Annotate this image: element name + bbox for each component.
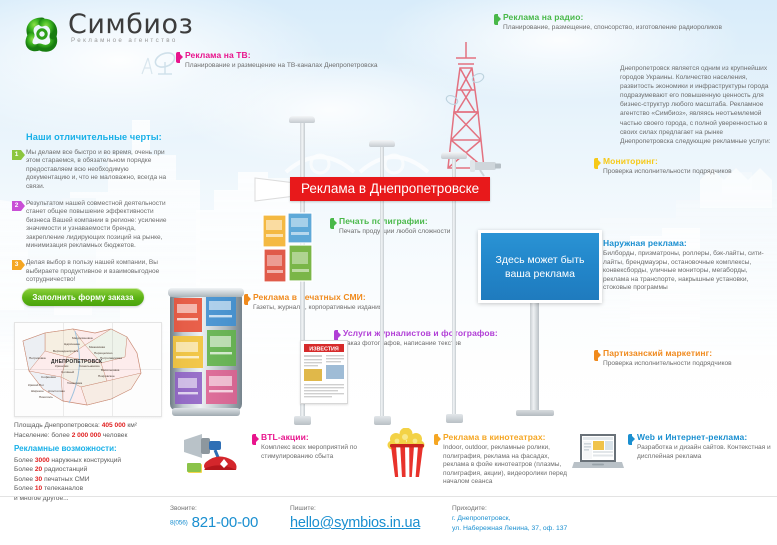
opp-suffix: наружных конструкций xyxy=(51,457,121,464)
footer: Звоните: 8(056) 821-00-00 Пишите: hello@… xyxy=(0,503,777,545)
map-label: Магдалиновка xyxy=(72,336,93,340)
brand-tagline: Рекламное агентство xyxy=(71,37,193,44)
green-knot-logo-icon xyxy=(22,14,62,54)
opp-prefix: Более xyxy=(14,466,33,473)
service-callout-tv[interactable]: Реклама на ТВ: Планирование и размещение… xyxy=(176,50,391,71)
service-callout-monitoring[interactable]: Мониторинг: Проверка исполнительности по… xyxy=(594,156,774,177)
callout-marker-icon xyxy=(330,218,334,229)
map-label: Верхнеднепровск xyxy=(53,349,78,353)
opp-suffix: радиостанций xyxy=(44,466,87,473)
callout-marker-icon xyxy=(244,294,248,305)
stat-population-value: 2 000 000 xyxy=(72,432,101,439)
advertising-column xyxy=(170,292,242,420)
billboard-post xyxy=(530,297,539,415)
opp-value: 30 xyxy=(35,476,42,483)
callout-marker-icon xyxy=(494,14,498,25)
laptop-icon xyxy=(572,432,624,472)
opp-value: 20 xyxy=(35,466,42,473)
service-callout-cinema[interactable]: Реклама в кинотеатрах: Indoor, outdoor, … xyxy=(434,432,570,487)
feature-item: 1 Мы делаем все быстро и во время, очень… xyxy=(12,149,172,191)
opp-suffix: печатных СМИ xyxy=(44,476,89,483)
callout-marker-icon xyxy=(594,350,598,361)
service-title: Web и Интернет-реклама: xyxy=(637,432,774,443)
footer-divider xyxy=(0,496,777,497)
footer-phone-code: 8(056) xyxy=(170,520,188,527)
service-title: Мониторинг: xyxy=(603,156,774,167)
service-title: BTL-акции: xyxy=(261,432,382,443)
list-item: Более 10 телеканалов xyxy=(14,484,194,493)
service-desc: Планирование, размещение, спонсорство, и… xyxy=(503,24,769,33)
list-item: Более 30 печатных СМИ xyxy=(14,475,194,484)
opportunities-title: Рекламные возможности: xyxy=(14,444,194,453)
service-callout-guerrilla[interactable]: Партизанский маркетинг: Проверка исполни… xyxy=(594,348,774,369)
list-item: Более 20 радиостанций xyxy=(14,465,194,474)
feature-text: Делая выбор в пользу нашей компании, Вы … xyxy=(26,259,172,284)
map-label: Межевская xyxy=(89,345,105,349)
service-title: Партизанский маркетинг: xyxy=(603,348,774,359)
stat-area-unit: км² xyxy=(127,422,137,429)
map-label: Солёный xyxy=(61,370,74,374)
feature-text: Результатом нашей совместной деятельност… xyxy=(26,200,172,250)
service-callout-outdoor[interactable]: Наружная реклама: Билборды, призматроны,… xyxy=(594,238,774,293)
service-title: Реклама в печатных СМИ: xyxy=(253,292,434,303)
features-title: Наши отличительные черты: xyxy=(26,132,172,142)
service-desc: Разработка и дизайн сайтов. Контекстная … xyxy=(637,444,774,461)
poster-collage xyxy=(262,212,314,284)
footer-address-block: Приходите: г. Днепропетровск, ул. Набере… xyxy=(452,505,567,533)
service-desc: Заказ фотографов, написание текстов xyxy=(343,340,534,349)
service-desc: Indoor, outdoor, рекламные ролики, полиг… xyxy=(443,444,570,487)
stat-population-prefix: более xyxy=(51,432,69,439)
map-label: Покровское xyxy=(98,374,115,378)
service-title: Печать полиграфии: xyxy=(339,216,510,227)
footer-write-label: Пишите: xyxy=(290,505,420,512)
map-label: Кринички xyxy=(55,364,68,368)
opp-prefix: Более xyxy=(14,457,33,464)
service-callout-btl[interactable]: BTL-акции: Комплекс всех мероприятий по … xyxy=(252,432,382,461)
stat-area: Площадь Днепропетровска: 405 000 км² xyxy=(14,421,194,431)
map-label: Петриковка xyxy=(29,356,46,360)
callout-marker-icon xyxy=(176,52,180,63)
map-label: Васильковка xyxy=(101,368,119,372)
page-root: Симбиоз Рекламное агентство Реклама на Т… xyxy=(0,0,777,545)
map-label: Синельниково xyxy=(79,364,100,368)
billboard-line-2: ваша реклама xyxy=(496,267,585,281)
stat-area-value: 405 000 xyxy=(102,422,126,429)
feature-item: 3 Делая выбор в пользу нашей компании, В… xyxy=(12,259,172,284)
stat-population-label: Население: xyxy=(14,432,50,439)
opp-value: 10 xyxy=(35,485,42,492)
footer-email-link[interactable]: hello@symbios.in.ua xyxy=(290,515,420,531)
service-title: Услуги журналистов и фотографов: xyxy=(343,328,534,339)
opp-prefix: Более xyxy=(14,476,33,483)
service-desc: Планирование и размещение на ТВ-каналах … xyxy=(185,62,391,71)
opportunities-section: Рекламные возможности: Более 3000 наружн… xyxy=(14,444,194,503)
service-title: Реклама в кинотеатрах: xyxy=(443,432,570,443)
service-callout-radio[interactable]: Реклама на радио: Планирование, размещен… xyxy=(494,12,769,33)
service-title: Реклама на ТВ: xyxy=(185,50,391,61)
callout-marker-icon xyxy=(252,434,256,445)
map-label: Томаковка xyxy=(67,381,82,385)
callout-marker-icon xyxy=(594,158,598,169)
callout-marker-icon xyxy=(628,434,632,445)
city-stats: Площадь Днепропетровска: 405 000 км² Нас… xyxy=(14,421,194,440)
billboard-line-1: Здесь может быть xyxy=(496,253,585,267)
opp-suffix: телеканалов xyxy=(44,485,83,492)
popcorn-icon xyxy=(386,428,428,478)
opp-prefix: Более xyxy=(14,485,33,492)
service-callout-web[interactable]: Web и Интернет-реклама: Разработка и диз… xyxy=(628,432,774,461)
billboard-panel[interactable]: Здесь может быть ваша реклама xyxy=(478,230,602,303)
stat-population-unit: человек xyxy=(103,432,127,439)
service-title: Наружная реклама: xyxy=(603,238,774,249)
map-label: Апостолово xyxy=(48,389,65,393)
newspaper-poster: ИЗВЕСТИЯ xyxy=(300,340,348,404)
feature-number: 2 xyxy=(12,201,21,211)
brand-name: Симбиоз xyxy=(68,10,193,40)
service-callout-journalists[interactable]: Услуги журналистов и фотографов: Заказ ф… xyxy=(334,328,534,349)
feature-text: Мы делаем все быстро и во время, очень п… xyxy=(26,149,172,191)
region-map[interactable]: ДНЕПРОПЕТРОВСК Магдалиновка Царичанка Ме… xyxy=(14,322,162,417)
service-desc: Газеты, журналы, корпоративные издания xyxy=(253,304,434,313)
features-section: Наши отличительные черты: 1 Мы делаем вс… xyxy=(12,132,172,294)
stat-population: Население: более 2 000 000 человек xyxy=(14,431,194,441)
btl-promo-icon xyxy=(182,430,248,476)
feature-number: 3 xyxy=(12,260,21,270)
callout-marker-icon xyxy=(434,434,438,445)
service-desc: Билборды, призматроны, роллеры, бэк-лайт… xyxy=(603,250,774,293)
map-label: Перещепино xyxy=(94,351,112,355)
service-desc: Проверка исполнительности подрядчиков xyxy=(603,168,774,177)
footer-visit-label: Приходите: xyxy=(452,505,567,512)
kiosk-cap xyxy=(168,288,244,297)
footer-address-line-1: г. Днепропетровск, xyxy=(452,514,567,524)
service-desc: Комплекс всех мероприятий по стимулирова… xyxy=(261,444,382,461)
stat-area-label: Площадь Днепропетровска: xyxy=(14,422,100,429)
main-banner-title: Реклама в Днепропетровске xyxy=(290,177,490,201)
footer-phone-block: Звоните: 8(056) 821-00-00 xyxy=(170,505,258,531)
billboard-base xyxy=(516,410,554,416)
feature-number: 1 xyxy=(12,150,21,160)
map-label: Широкое xyxy=(31,389,44,393)
map-label: Царичанка xyxy=(64,342,80,346)
intro-text: Днепропетровск является одним из крупней… xyxy=(620,64,772,146)
poster-masthead: ИЗВЕСТИЯ xyxy=(309,346,339,352)
service-callout-press[interactable]: Реклама в печатных СМИ: Газеты, журналы,… xyxy=(244,292,434,313)
footer-phone-number: 821-00-00 xyxy=(192,514,259,531)
footer-call-label: Звоните: xyxy=(170,505,258,512)
footer-email-block: Пишите: hello@symbios.in.ua xyxy=(290,505,420,532)
logo[interactable]: Симбиоз Рекламное агентство xyxy=(22,12,202,60)
map-label: Софиевка xyxy=(41,375,56,379)
footer-address-line-2: ул. Набережная Ленина, 37, оф. 137 xyxy=(452,524,567,534)
footer-phone[interactable]: 8(056) 821-00-00 xyxy=(170,514,258,531)
list-item: Более 3000 наружных конструкций xyxy=(14,456,194,465)
map-label: Петропавловка xyxy=(100,356,122,360)
opp-value: 3000 xyxy=(35,457,50,464)
service-title: Реклама на радио: xyxy=(503,12,769,23)
map-label: Никополь xyxy=(39,395,53,399)
order-form-button[interactable]: Заполнить форму заказа xyxy=(22,288,144,306)
kiosk-foot xyxy=(172,408,240,416)
kiosk-body xyxy=(170,292,242,410)
feature-item: 2 Результатом нашей совместной деятельно… xyxy=(12,200,172,250)
map-label: Кривой Рог xyxy=(28,383,44,387)
service-desc: Проверка исполнительности подрядчиков xyxy=(603,360,774,369)
